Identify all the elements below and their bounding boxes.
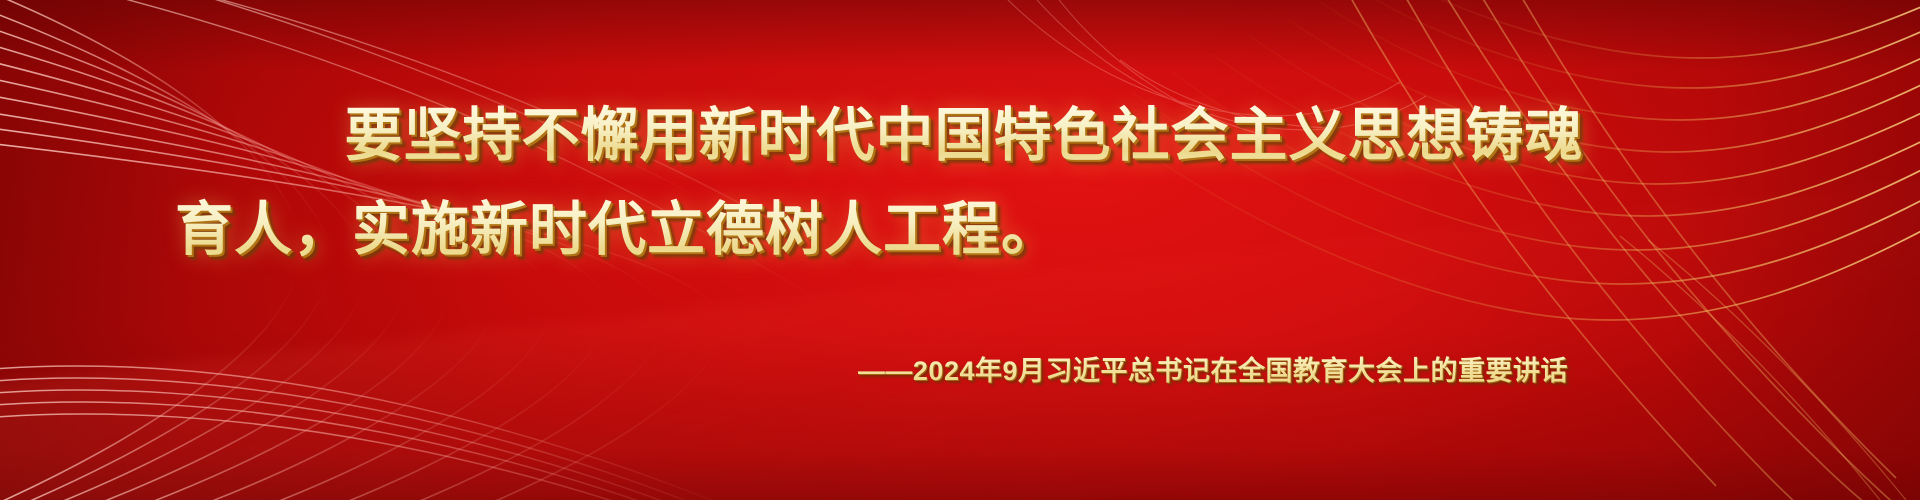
quote-block: 要坚持不懈用新时代中国特色社会主义思想铸魂 育人，实施新时代立德树人工程。 bbox=[0, 96, 1920, 270]
quote-line-2: 育人，实施新时代立德树人工程。 bbox=[0, 190, 1920, 270]
quote-line-1: 要坚持不懈用新时代中国特色社会主义思想铸魂 bbox=[336, 103, 1583, 168]
attribution-source: ——2024年9月习近平总书记在全国教育大会上的重要讲话 bbox=[858, 352, 1568, 390]
red-propaganda-banner: 要坚持不懈用新时代中国特色社会主义思想铸魂 育人，实施新时代立德树人工程。 ——… bbox=[0, 0, 1920, 500]
banner-content: 要坚持不懈用新时代中国特色社会主义思想铸魂 育人，实施新时代立德树人工程。 ——… bbox=[0, 0, 1920, 500]
